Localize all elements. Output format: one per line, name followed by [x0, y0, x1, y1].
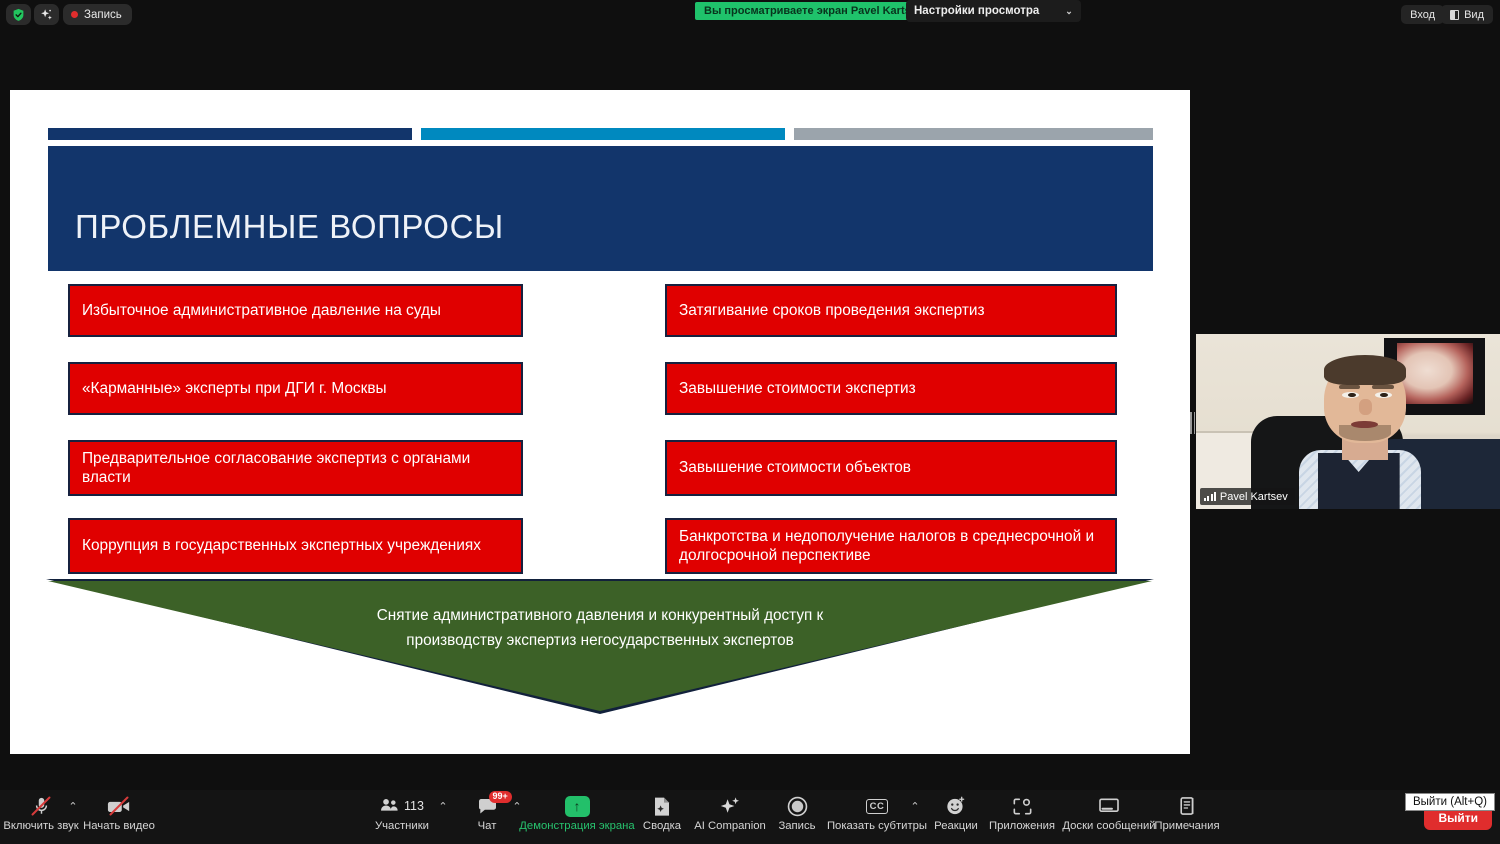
record-button[interactable]: Запись: [774, 794, 820, 832]
video-feed: [1196, 334, 1500, 509]
problem-box: Затягивание сроков проведения экспертиз: [665, 284, 1117, 337]
view-button[interactable]: Вид: [1441, 5, 1493, 24]
signal-bars-icon: [1204, 492, 1216, 501]
accent-bars: [48, 128, 1153, 140]
chat-bubble-icon: 99+: [477, 794, 498, 818]
share-screen-button[interactable]: ↑ Демонстрация экрана: [512, 794, 642, 832]
whiteboard-label: Доски сообщений: [1062, 821, 1155, 832]
ai-companion-button[interactable]: AI Companion: [691, 794, 769, 832]
apps-label: Приложения: [989, 821, 1055, 832]
login-button[interactable]: Вход: [1401, 5, 1444, 24]
reactions-label: Реакции: [934, 821, 978, 832]
microphone-muted-icon: [33, 794, 50, 818]
conclusion-arrow: Снятие административного давления и конк…: [46, 579, 1154, 714]
slide-title-band: ПРОБЛЕМНЫЕ ВОПРОСЫ: [48, 146, 1153, 271]
captions-label: Показать субтитры: [827, 821, 927, 832]
chat-label: Чат: [478, 821, 497, 832]
chevron-up-icon: ⌃: [438, 800, 447, 813]
video-label: Начать видео: [83, 821, 155, 832]
apps-button[interactable]: Приложения: [984, 794, 1060, 832]
apps-brackets-icon: [1012, 794, 1033, 818]
record-label: Запись: [778, 821, 815, 832]
login-label: Вход: [1410, 9, 1435, 21]
shield-check-icon[interactable]: [6, 4, 31, 25]
video-tile[interactable]: Pavel Kartsev: [1196, 334, 1500, 509]
video-tile-drag-handle[interactable]: [1190, 412, 1195, 434]
participant-name-badge: Pavel Kartsev: [1200, 488, 1295, 505]
chevron-down-icon: ⌄: [1065, 6, 1073, 17]
accent-bar-1: [48, 128, 412, 140]
problem-box: Предварительное согласование экспертиз с…: [68, 440, 523, 496]
accent-bar-3: [794, 128, 1153, 140]
problem-box: Завышение стоимости экспертиз: [665, 362, 1117, 415]
notes-icon: [1178, 794, 1196, 818]
top-bar: Запись Вы просматриваете экран Pavel Kar…: [0, 0, 1500, 28]
participants-button[interactable]: 113 Участники: [371, 794, 433, 832]
leave-tooltip: Выйти (Alt+Q): [1405, 793, 1495, 811]
recording-label: Запись: [84, 9, 122, 21]
participant-name: Pavel Kartsev: [1220, 491, 1288, 503]
chevron-up-icon: ⌃: [68, 800, 77, 813]
participants-options-caret[interactable]: ⌃: [432, 794, 454, 821]
sparkle-icon[interactable]: [34, 4, 59, 25]
captions-options-caret[interactable]: ⌃: [904, 794, 926, 821]
recording-indicator[interactable]: Запись: [63, 4, 132, 25]
cc-icon: CC: [866, 799, 889, 814]
problem-box: Коррупция в государственных экспертных у…: [68, 518, 523, 574]
camera-muted-icon: [107, 794, 131, 818]
problem-box: Банкротства и недополучение налогов в ср…: [665, 518, 1117, 574]
participants-count: 113: [404, 799, 424, 813]
problem-box: «Карманные» эксперты при ДГИ г. Москвы: [68, 362, 523, 415]
audio-options-caret[interactable]: ⌃: [62, 794, 84, 821]
record-circle-icon: [787, 794, 808, 818]
notes-button[interactable]: Примечания: [1152, 794, 1222, 832]
view-settings-label: Настройки просмотра: [914, 5, 1039, 17]
reactions-button[interactable]: Реакции: [928, 794, 984, 832]
summary-button[interactable]: Сводка: [633, 794, 691, 832]
meeting-toolbar: Включить звук ⌃ Начать видео 1: [0, 790, 1500, 844]
accent-bar-2: [421, 128, 785, 140]
chat-button[interactable]: 99+ Чат: [464, 794, 510, 832]
summary-label: Сводка: [643, 821, 681, 832]
share-arrow-glyph: ↑: [574, 798, 581, 814]
sharing-banner: Вы просматриваете экран Pavel Kartsev: [695, 2, 932, 20]
people-icon: [380, 798, 399, 815]
conclusion-text: Снятие административного давления и конк…: [330, 604, 870, 654]
problem-box: Избыточное административное давление на …: [68, 284, 523, 337]
share-screen-icon: ↑: [565, 796, 590, 817]
participants-label: Участники: [375, 821, 429, 832]
toggle-video-button[interactable]: Начать видео: [84, 794, 154, 832]
ai-companion-label: AI Companion: [694, 821, 766, 832]
summary-document-icon: [653, 794, 671, 818]
view-label: Вид: [1464, 9, 1484, 21]
smiley-plus-icon: [946, 794, 966, 818]
slide-title: ПРОБЛЕМНЫЕ ВОПРОСЫ: [48, 208, 504, 271]
whiteboard-icon: [1098, 794, 1120, 818]
shared-screen-slide[interactable]: ПРОБЛЕМНЫЕ ВОПРОСЫ Избыточное администра…: [10, 90, 1190, 754]
sparkles-icon: [719, 794, 741, 818]
whiteboard-button[interactable]: Доски сообщений: [1060, 794, 1158, 832]
record-dot-icon: [71, 11, 78, 18]
layout-view-icon: [1450, 10, 1459, 20]
audio-label: Включить звук: [3, 821, 78, 832]
share-label: Демонстрация экрана: [519, 821, 634, 832]
problem-box: Завышение стоимости объектов: [665, 440, 1117, 496]
view-settings-button[interactable]: Настройки просмотра ⌄: [906, 0, 1081, 22]
chevron-up-icon: ⌃: [910, 800, 919, 813]
notes-label: Примечания: [1154, 821, 1219, 832]
